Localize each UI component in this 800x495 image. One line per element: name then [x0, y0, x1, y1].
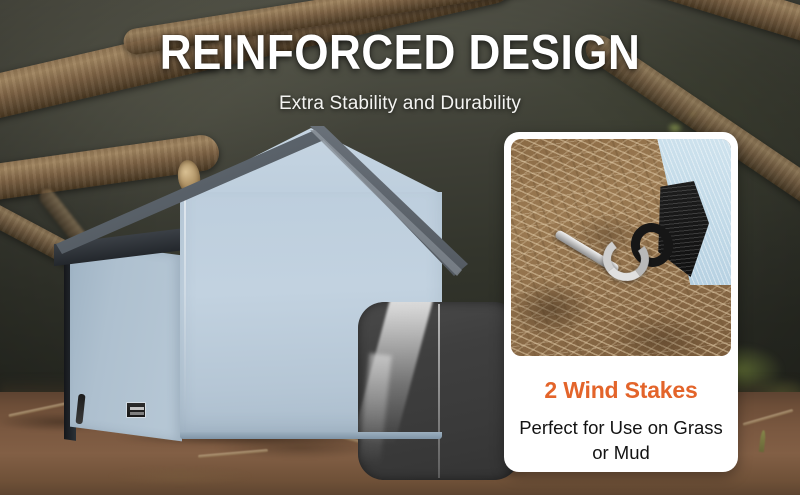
- callout-title: 2 Wind Stakes: [511, 377, 731, 404]
- doorway-seam: [438, 304, 440, 478]
- pet-house-doorway: [358, 302, 520, 480]
- callout-card: 2 Wind Stakes Perfect for Use on Grass o…: [504, 132, 738, 472]
- pet-house: [52, 132, 472, 452]
- product-banner: REINFORCED DESIGN Extra Stability and Du…: [0, 0, 800, 495]
- pet-house-front-panel: [180, 192, 442, 438]
- headline-block: REINFORCED DESIGN Extra Stability and Du…: [0, 28, 800, 115]
- page-title: REINFORCED DESIGN: [40, 28, 760, 79]
- pet-house-corner-seam: [184, 194, 186, 438]
- callout-description: Perfect for Use on Grass or Mud: [511, 416, 731, 466]
- wind-stake-photo: [511, 139, 731, 356]
- product-label-tag: [126, 402, 146, 418]
- pet-house-bottom-trim: [180, 432, 442, 439]
- page-subtitle: Extra Stability and Durability: [0, 93, 800, 115]
